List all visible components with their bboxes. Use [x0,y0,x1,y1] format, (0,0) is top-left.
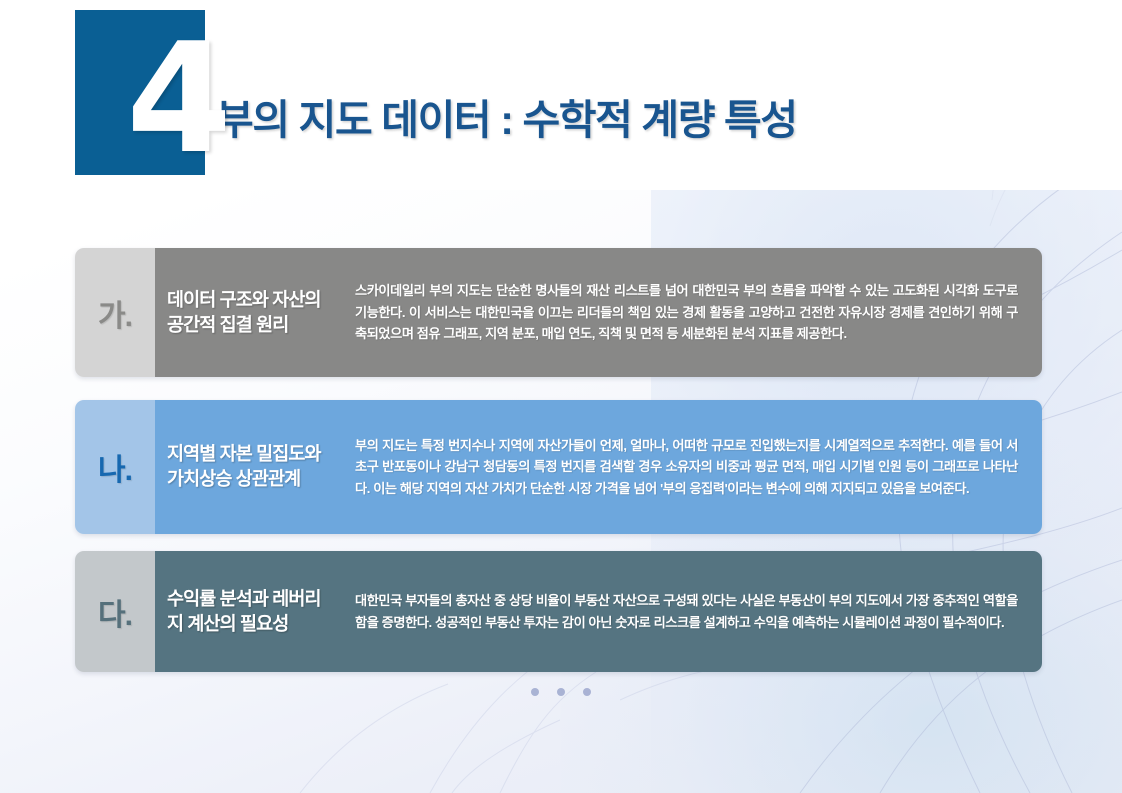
slide-header: 4 부의 지도 데이터 : 수학적 계량 특성 [0,0,1122,200]
row-key-label: 다. [75,551,155,672]
pagination-dot-3[interactable] [583,688,591,696]
row-body-text: 대한민국 부자들의 총자산 중 상당 비율이 부동산 자산으로 구성돼 있다는 … [335,551,1042,672]
section-number: 4 [78,24,228,174]
row-title-label: 지역별 자본 밀집도와 가치상승 상관관계 [155,400,335,534]
pagination-dot-1[interactable] [531,688,539,696]
content-row: 나. 지역별 자본 밀집도와 가치상승 상관관계 부의 지도는 특정 번지수나 … [75,400,1042,534]
pagination-dot-2[interactable] [557,688,565,696]
content-row: 가. 데이터 구조와 자산의 공간적 집결 원리 스카이데일리 부의 지도는 단… [75,248,1042,377]
row-title-label: 데이터 구조와 자산의 공간적 집결 원리 [155,248,335,377]
pagination-dots [0,688,1122,696]
row-body-text: 부의 지도는 특정 번지수나 지역에 자산가들이 언제, 얼마나, 어떠한 규모… [335,400,1042,534]
content-row: 다. 수익률 분석과 레버리지 계산의 필요성 대한민국 부자들의 총자산 중 … [75,551,1042,672]
row-title-label: 수익률 분석과 레버리지 계산의 필요성 [155,551,335,672]
row-key-label: 가. [75,248,155,377]
row-body-text: 스카이데일리 부의 지도는 단순한 명사들의 재산 리스트를 넘어 대한민국 부… [335,248,1042,377]
row-key-label: 나. [75,400,155,534]
page-title: 부의 지도 데이터 : 수학적 계량 특성 [216,86,797,146]
